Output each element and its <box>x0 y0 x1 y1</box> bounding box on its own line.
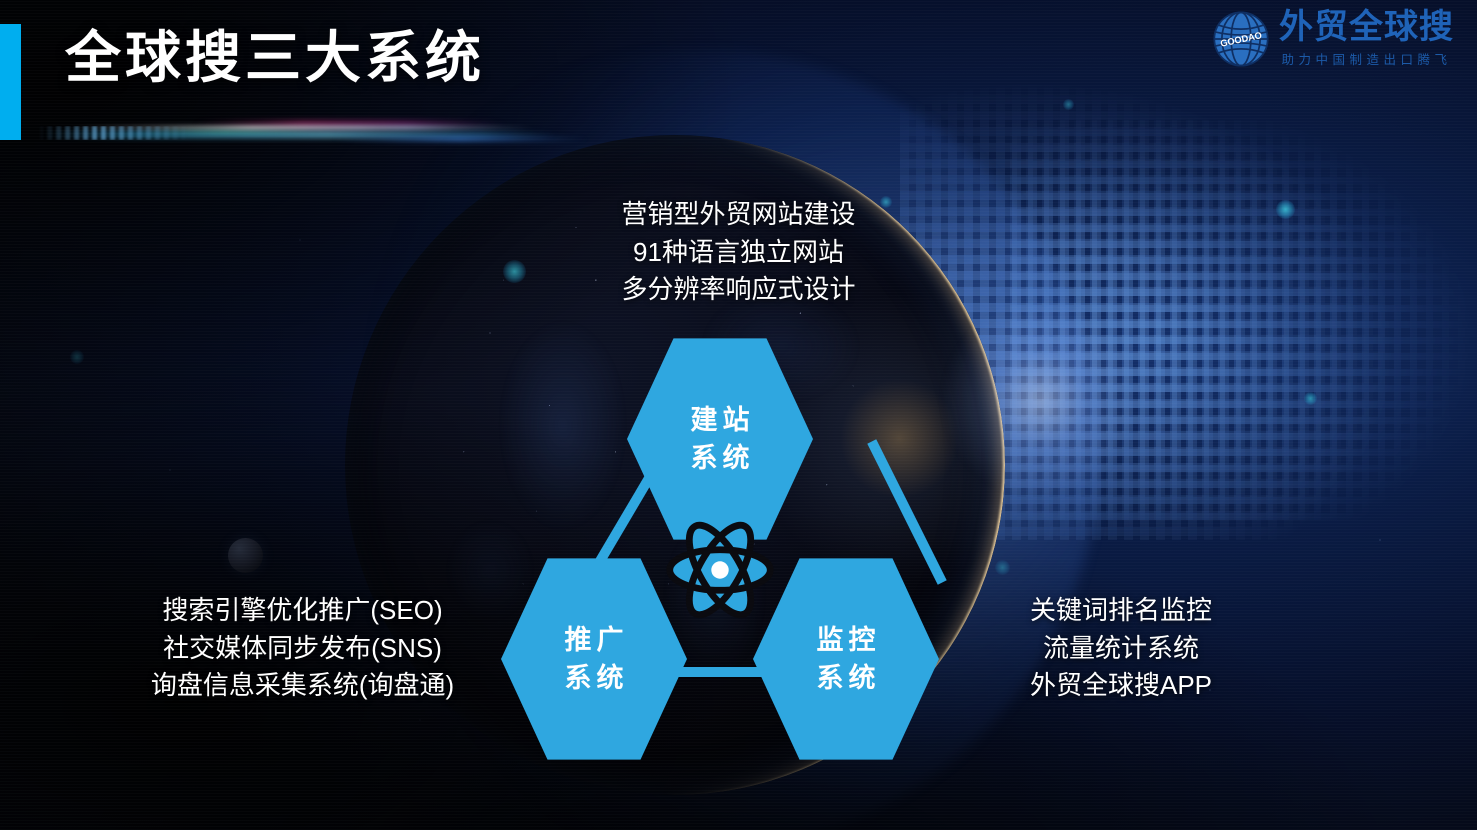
caption-line: 流量统计系统 <box>990 630 1252 668</box>
caption-line: 询盘信息采集系统(询盘通) <box>130 667 475 705</box>
hex-label-line2: 系统 <box>560 659 629 697</box>
logo-tagline: 助力中国制造出口腾飞 <box>1281 49 1451 68</box>
caption-line: 营销型外贸网站建设 <box>0 196 1477 234</box>
hex-label-line1: 推广 <box>560 621 629 659</box>
brand-logo: GOODAO 外贸全球搜 助力中国制造出口腾飞 <box>1212 10 1454 68</box>
caption-line: 关键词排名监控 <box>990 592 1252 630</box>
caption-promotion-system: 搜索引擎优化推广(SEO) 社交媒体同步发布(SNS) 询盘信息采集系统(询盘通… <box>130 592 475 705</box>
caption-monitoring-system: 关键词排名监控 流量统计系统 外贸全球搜APP <box>990 592 1252 705</box>
three-systems-diagram: 建站 系统 推广 系统 监控 系统 <box>470 320 970 740</box>
caption-line: 社交媒体同步发布(SNS) <box>130 630 475 668</box>
caption-build-system: 营销型外贸网站建设 91种语言独立网站 多分辨率响应式设计 <box>0 196 1477 309</box>
caption-line: 91种语言独立网站 <box>0 234 1477 272</box>
logo-company-name: 外贸全球搜 <box>1279 10 1454 46</box>
hex-label-line2: 系统 <box>812 659 881 697</box>
globe-logo-icon: GOODAO <box>1212 10 1270 68</box>
hex-label-line1: 建站 <box>686 401 755 439</box>
slide-canvas: 全球搜三大系统 GOODAO 外贸全球搜 助力中国制造出口腾 <box>0 0 1477 830</box>
caption-line: 多分辨率响应式设计 <box>0 271 1477 309</box>
page-title: 全球搜三大系统 <box>65 26 485 90</box>
caption-line: 外贸全球搜APP <box>990 667 1252 705</box>
title-accent-bar <box>0 24 21 140</box>
atom-nucleus <box>711 561 728 578</box>
connector-build-monitor <box>874 446 940 578</box>
hex-label-line2: 系统 <box>686 439 755 477</box>
logo-text-block: 外贸全球搜 助力中国制造出口腾飞 <box>1279 10 1454 68</box>
caption-line: 搜索引擎优化推广(SEO) <box>130 592 475 630</box>
hex-label-line1: 监控 <box>812 621 881 659</box>
atom-icon <box>662 512 778 628</box>
